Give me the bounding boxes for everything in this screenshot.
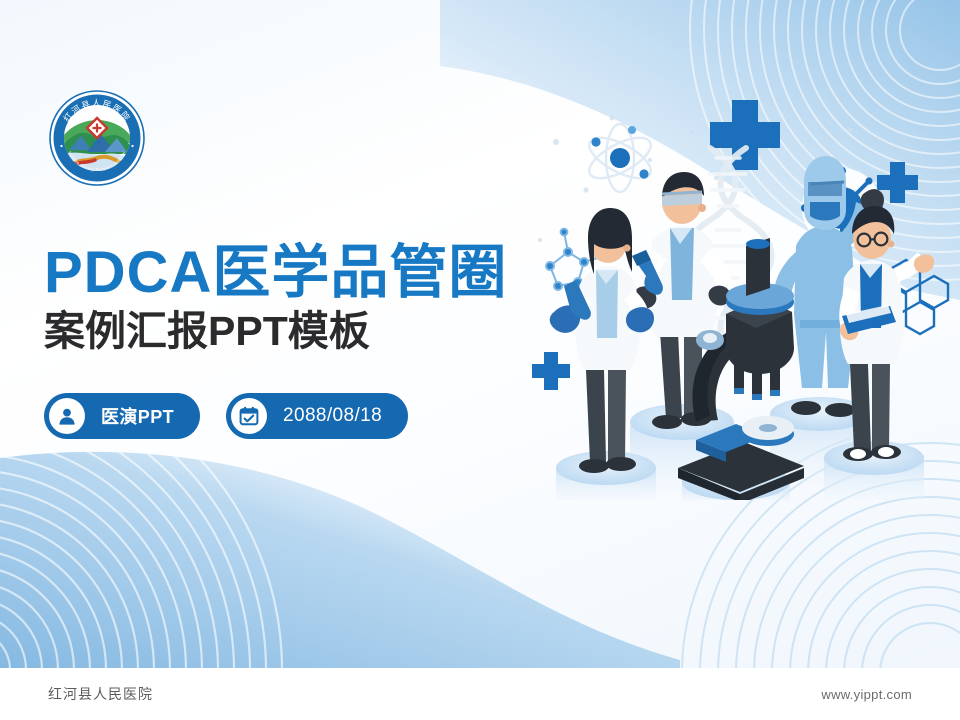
- medical-team-illustration: [520, 70, 960, 500]
- calendar-icon: [231, 398, 267, 434]
- medical-cross-left: [532, 352, 570, 390]
- presentation-title-slide: 1950 红河县人民医院 Honghe County People's Hosp…: [0, 0, 960, 720]
- svg-text:1950: 1950: [92, 140, 102, 145]
- page-subtitle: 案例汇报PPT模板: [44, 309, 564, 353]
- meta-badge-row: 医演PPT 2088/08/18: [44, 393, 408, 439]
- user-icon: [49, 398, 85, 434]
- illustration-canvas: [520, 70, 960, 500]
- author-badge[interactable]: 医演PPT: [44, 393, 200, 439]
- title-block: PDCA医学品管圈 案例汇报PPT模板: [44, 243, 564, 354]
- footer-website[interactable]: www.yippt.com: [821, 687, 912, 702]
- hospital-emblem-icon: 1950 红河县人民医院 Honghe County People's Hosp…: [47, 88, 147, 188]
- date-badge[interactable]: 2088/08/18: [226, 393, 408, 439]
- slide-footer: 红河县人民医院 www.yippt.com: [0, 668, 960, 720]
- author-badge-label: 医演PPT: [101, 403, 174, 429]
- date-badge-label: 2088/08/18: [283, 405, 382, 427]
- footer-hospital-name: 红河县人民医院: [48, 684, 153, 704]
- molecule-structure: [583, 124, 656, 192]
- hospital-logo: 1950 红河县人民医院 Honghe County People's Hosp…: [47, 88, 147, 188]
- page-title: PDCA医学品管圈: [44, 243, 564, 303]
- male-scientist-goggles: [632, 172, 732, 429]
